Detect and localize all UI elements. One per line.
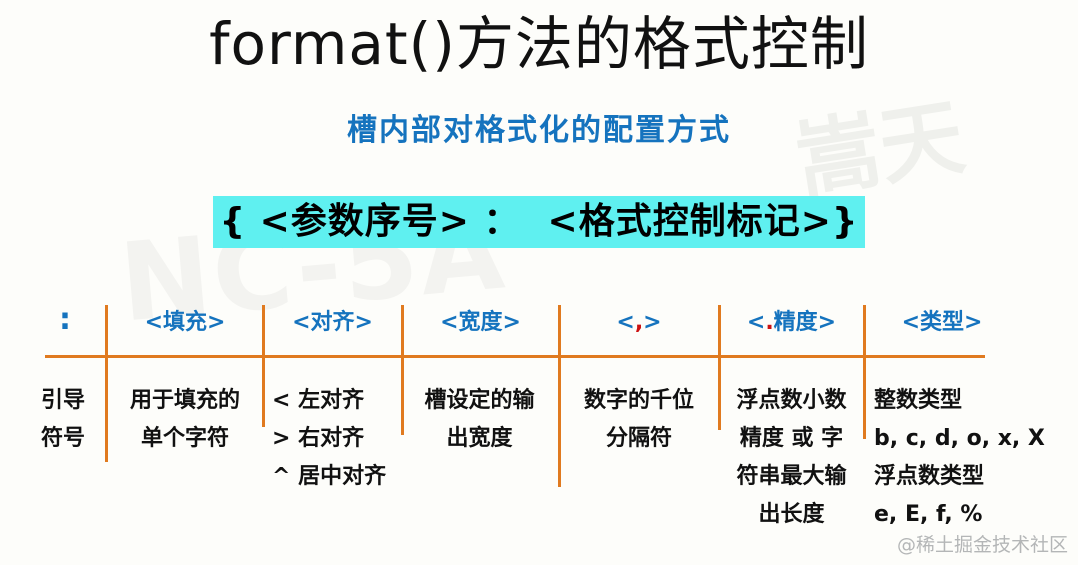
cell-line: 符串最大输 xyxy=(722,458,861,496)
cell-line: 整数类型 xyxy=(874,382,1074,420)
cell-line: 分隔符 xyxy=(562,420,716,458)
column-header-colon: : xyxy=(30,305,100,335)
cell-line: 用于填充的 xyxy=(110,382,260,420)
table-cell-align: < 左对齐 > 右对齐 ^ 居中对齐 xyxy=(272,382,400,496)
cell-line: 符号 xyxy=(25,420,101,458)
table-cell-fill: 用于填充的 单个字符 xyxy=(110,382,260,458)
cell-line: 单个字符 xyxy=(110,420,260,458)
comma-header-accent: , xyxy=(635,310,643,335)
type-header-label: <类型> xyxy=(902,310,983,335)
cell-line: 出宽度 xyxy=(403,420,556,458)
cell-line: 浮点数小数 xyxy=(722,382,861,420)
table-cell-type: 整数类型 b, c, d, o, x, X 浮点数类型 e, E, f, % xyxy=(874,382,1074,534)
comma-header-prefix: < xyxy=(616,310,634,335)
table-divider-4 xyxy=(558,305,561,487)
cell-line: 数字的千位 xyxy=(562,382,716,420)
table-divider-2 xyxy=(262,305,265,427)
column-header-align: <对齐> xyxy=(266,308,399,338)
table-cell-comma: 数字的千位 分隔符 xyxy=(562,382,716,458)
cell-line: 精度 或 字 xyxy=(722,420,861,458)
table-cell-precision: 浮点数小数 精度 或 字 符串最大输 出长度 xyxy=(722,382,861,534)
table-divider-6 xyxy=(863,305,866,439)
column-header-comma: <,> xyxy=(562,308,716,338)
slide-canvas: NC-5A 嵩天 format()方法的格式控制 槽内部对格式化的配置方式 { … xyxy=(0,0,1078,565)
format-spec-table: : <填充> <对齐> <宽度> <,> <.精度> <类型> 引导 符号 用于… xyxy=(0,0,1078,565)
column-header-width: <宽度> xyxy=(405,308,556,338)
comma-header-suffix: > xyxy=(643,310,661,335)
table-cell-colon: 引导 符号 xyxy=(25,382,101,458)
precision-header-prefix: < xyxy=(747,310,765,335)
column-header-precision: <.精度> xyxy=(722,308,861,338)
table-header-rule xyxy=(45,355,985,358)
table-divider-5 xyxy=(718,305,721,430)
table-cell-width: 槽设定的输 出宽度 xyxy=(403,382,556,458)
corner-watermark: @稀土掘金技术社区 xyxy=(897,533,1068,557)
table-divider-1 xyxy=(105,305,108,462)
column-header-type: <类型> xyxy=(867,308,1017,338)
column-header-fill: <填充> xyxy=(110,308,260,338)
cell-line: 槽设定的输 xyxy=(403,382,556,420)
cell-line: ^ 居中对齐 xyxy=(272,458,400,496)
cell-line: 出长度 xyxy=(722,496,861,534)
precision-header-suffix: 精度> xyxy=(774,310,836,335)
cell-line: e, E, f, % xyxy=(874,496,1074,534)
cell-line: 引导 xyxy=(25,382,101,420)
cell-line: < 左对齐 xyxy=(272,382,400,420)
precision-header-accent: . xyxy=(765,310,773,335)
cell-line: 浮点数类型 xyxy=(874,458,1074,496)
cell-line: > 右对齐 xyxy=(272,420,400,458)
cell-line: b, c, d, o, x, X xyxy=(874,420,1074,458)
